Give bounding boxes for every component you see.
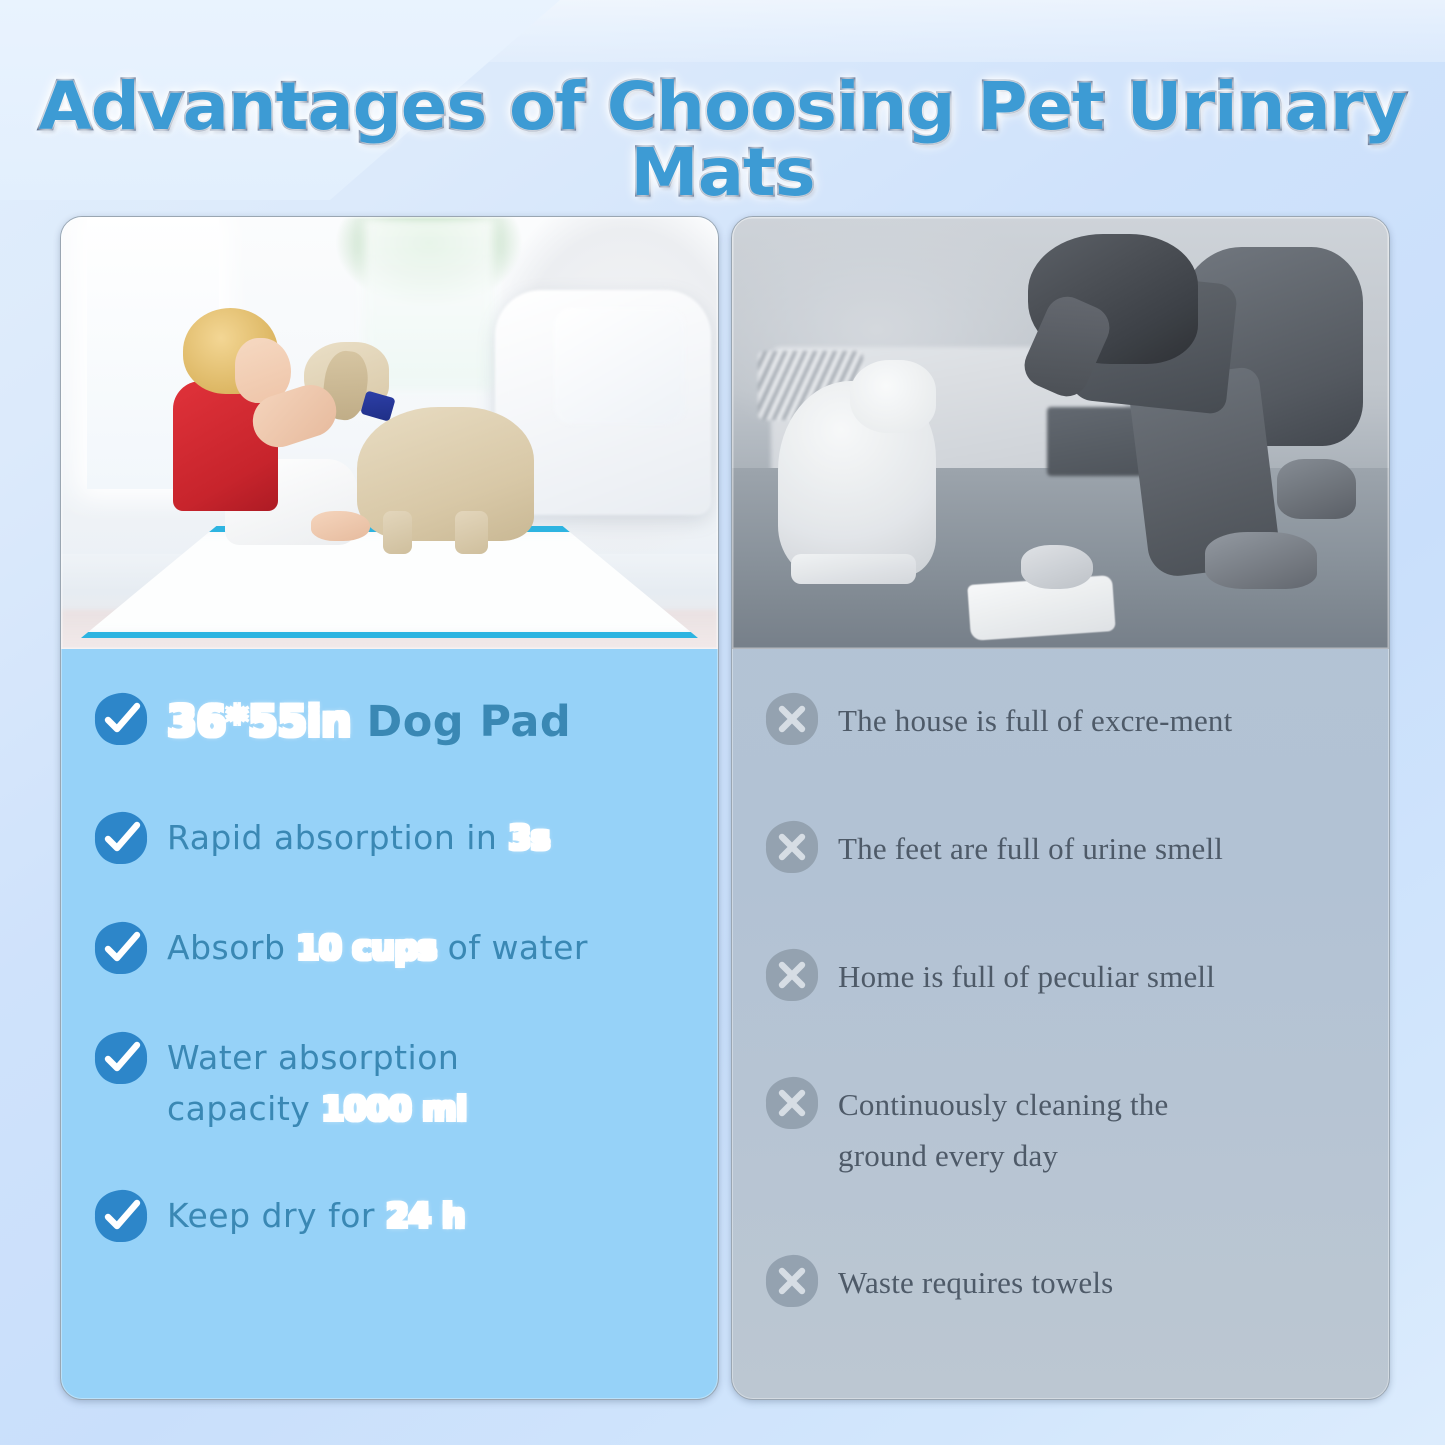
list-item-highlight: 36*55in	[167, 697, 351, 747]
disadvantages-list: The house is full of excre-ment The feet…	[732, 649, 1389, 1399]
photo-puppy-collar	[361, 390, 396, 421]
photo-puppy-leg-front	[383, 511, 413, 554]
photo-woman-shoe-front	[1205, 532, 1317, 588]
list-item-text: Water absorption capacity 1000 ml	[167, 1028, 467, 1134]
list-item: The house is full of excre-ment	[764, 689, 1365, 747]
check-circle-icon	[93, 1030, 149, 1086]
photo-poodle-paws	[791, 554, 916, 584]
check-circle-icon	[93, 920, 149, 976]
list-item-text: The house is full of excre-ment	[838, 689, 1232, 746]
list-item-prefix: Rapid absorption in	[167, 818, 508, 857]
photo-woman-cleaning-floor	[732, 217, 1389, 649]
cross-circle-icon	[764, 1075, 820, 1131]
list-item-suffix: Dog Pad	[351, 697, 571, 747]
advantages-list: 36*55in Dog Pad Rapid absorption in 3s A…	[61, 649, 718, 1399]
advantages-panel: 36*55in Dog Pad Rapid absorption in 3s A…	[60, 216, 719, 1400]
list-item-highlight: 3s	[508, 818, 550, 857]
cross-circle-icon	[764, 819, 820, 875]
list-item-prefix: Absorb	[167, 928, 296, 967]
page-title-text: Advantages of Choosing Pet Urinary Mats	[0, 74, 1445, 206]
list-item-text: Rapid absorption in 3s	[167, 808, 550, 863]
photo-woman-shoe-back	[1277, 459, 1356, 519]
list-item-text: Absorb 10 cups of water	[167, 918, 588, 973]
check-circle-icon	[93, 1188, 149, 1244]
list-item: The feet are full of urine smell	[764, 817, 1365, 875]
photo-pillow	[554, 308, 685, 425]
photo-poodle-head	[850, 360, 935, 433]
list-item-text: Keep dry for 24 h	[167, 1186, 465, 1241]
list-item: Keep dry for 24 h	[93, 1186, 694, 1244]
list-item-text: Home is full of peculiar smell	[838, 945, 1215, 1002]
list-item-text: The feet are full of urine smell	[838, 817, 1223, 874]
list-item-text: Waste requires towels	[838, 1251, 1113, 1308]
list-item: Absorb 10 cups of water	[93, 918, 694, 976]
list-item-text: 36*55in Dog Pad	[167, 689, 571, 756]
list-item: 36*55in Dog Pad	[93, 689, 694, 756]
check-circle-icon	[93, 691, 149, 747]
list-item-highlight: 10 cups	[296, 928, 436, 967]
photo-puppy-leg-back	[455, 511, 488, 554]
background-top-band	[0, 0, 1445, 62]
photo-boy-with-puppy-on-mat	[61, 217, 718, 649]
cross-circle-icon	[764, 1253, 820, 1309]
photo-woman-hand	[1021, 545, 1093, 588]
page-title: Advantages of Choosing Pet Urinary Mats	[0, 74, 1445, 206]
list-item-highlight: 1000 ml	[321, 1089, 467, 1128]
photo-boy-foot	[311, 511, 370, 541]
list-item-text: Continuously cleaning the ground every d…	[838, 1073, 1168, 1181]
check-circle-icon	[93, 810, 149, 866]
list-item: Water absorption capacity 1000 ml	[93, 1028, 694, 1134]
cross-circle-icon	[764, 691, 820, 747]
background-diagonal-wedge	[0, 0, 760, 200]
list-item-prefix: Keep dry for	[167, 1196, 386, 1235]
cross-circle-icon	[764, 947, 820, 1003]
disadvantages-panel: The house is full of excre-ment The feet…	[731, 216, 1390, 1400]
comparison-panels: 36*55in Dog Pad Rapid absorption in 3s A…	[60, 216, 1390, 1400]
list-item: Rapid absorption in 3s	[93, 808, 694, 866]
list-item-highlight: 24 h	[386, 1196, 465, 1235]
list-item: Home is full of peculiar smell	[764, 945, 1365, 1003]
list-item: Continuously cleaning the ground every d…	[764, 1073, 1365, 1181]
list-item-suffix: of water	[437, 928, 588, 967]
infographic-root: Advantages of Choosing Pet Urinary Mats	[0, 0, 1445, 1445]
list-item: Waste requires towels	[764, 1251, 1365, 1309]
